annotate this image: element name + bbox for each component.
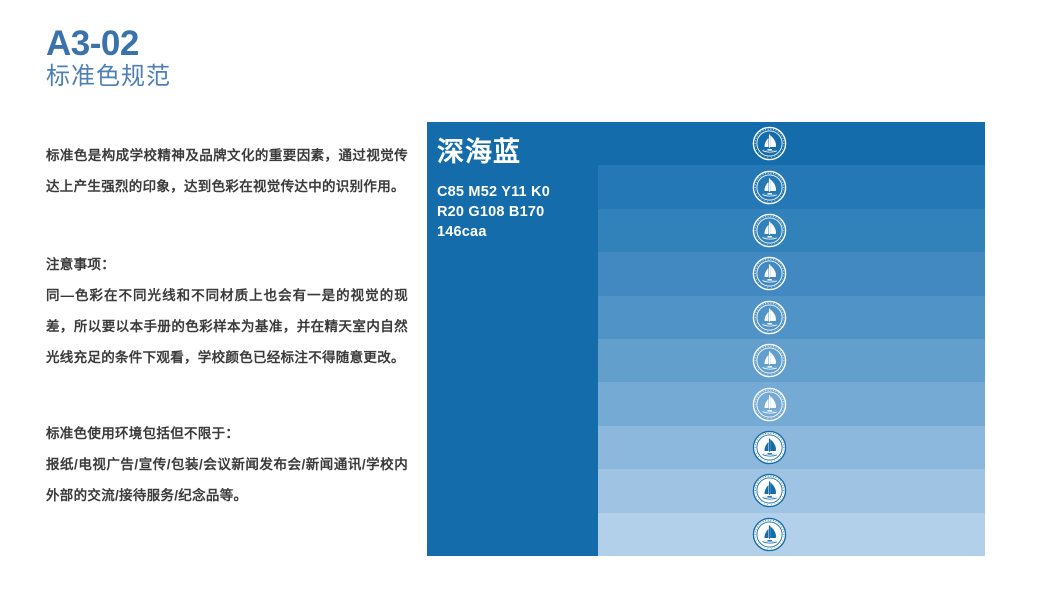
tint-swatch: [598, 165, 985, 208]
tint-swatch: [598, 296, 985, 339]
tint-swatch: [598, 382, 985, 425]
tint-swatch: [598, 513, 985, 556]
page-header: A3-02 标准色规范: [46, 26, 406, 89]
tint-swatch: [598, 209, 985, 252]
page-code: A3-02: [46, 26, 406, 61]
tint-swatch: [598, 339, 985, 382]
paragraph-usage: 报纸/电视广告/宣传/包装/会议新闻发布会/新闻通讯/学校内外部的交流/接待服务…: [46, 449, 408, 511]
paragraph-notice: 同—色彩在不同光线和不同材质上也会有一是的视觉的现差，所以要以本手册的色彩样本为…: [46, 280, 408, 373]
page-title: 标准色规范: [46, 65, 406, 89]
tint-swatch: [598, 252, 985, 295]
paragraph-intro: 标准色是构成学校精神及品牌文化的重要因素，通过视觉传达上产生强烈的印象，达到色彩…: [46, 140, 408, 202]
color-name: 深海蓝: [437, 138, 597, 168]
color-info: 深海蓝 C85 M52 Y11 K0 R20 G108 B170 146caa: [437, 138, 597, 242]
color-rgb: R20 G108 B170: [437, 202, 597, 222]
color-cmyk: C85 M52 Y11 K0: [437, 182, 597, 202]
spacer: [46, 373, 408, 418]
tint-swatch: [598, 469, 985, 512]
notice-label: 注意事项：: [46, 249, 408, 280]
tint-swatch: [598, 426, 985, 469]
color-specimen-panel: 深海蓝 C85 M52 Y11 K0 R20 G108 B170 146caa: [427, 122, 985, 556]
color-codes: C85 M52 Y11 K0 R20 G108 B170 146caa: [437, 182, 597, 242]
tint-swatch: [598, 122, 985, 165]
color-hex: 146caa: [437, 222, 597, 242]
body-text-column: 标准色是构成学校精神及品牌文化的重要因素，通过视觉传达上产生强烈的印象，达到色彩…: [46, 140, 408, 511]
spacer: [46, 202, 408, 249]
usage-label: 标准色使用环境包括但不限于：: [46, 418, 408, 449]
